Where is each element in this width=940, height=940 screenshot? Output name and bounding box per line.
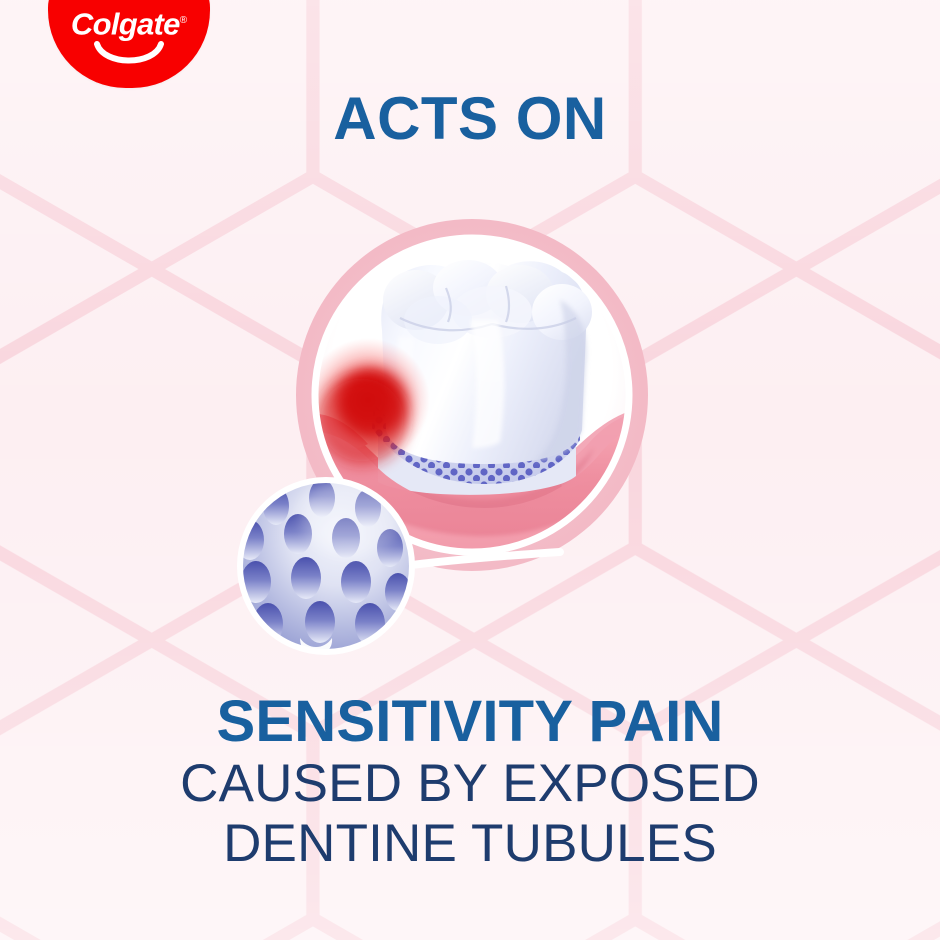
smile-arc-icon (94, 40, 164, 74)
ad-canvas: Colgate® ACTS ON (0, 0, 940, 940)
dentine-tubules-magnifier (234, 476, 414, 655)
logo-wordmark: Colgate® (48, 4, 210, 41)
bottom-copy-block: SENSITIVITY PAIN CAUSED BY EXPOSED DENTI… (0, 690, 940, 874)
logo-inner: Colgate® (48, 4, 210, 82)
copy-line-caused-by-exposed: CAUSED BY EXPOSED (0, 754, 940, 814)
headline-acts-on: ACTS ON (0, 86, 940, 152)
copy-line-sensitivity-pain: SENSITIVITY PAIN (0, 690, 940, 754)
registered-trademark-icon: ® (180, 15, 187, 26)
colgate-logo: Colgate® (48, 0, 210, 88)
copy-line-dentine-tubules: DENTINE TUBULES (0, 814, 940, 874)
logo-brand-text: Colgate (71, 6, 180, 41)
